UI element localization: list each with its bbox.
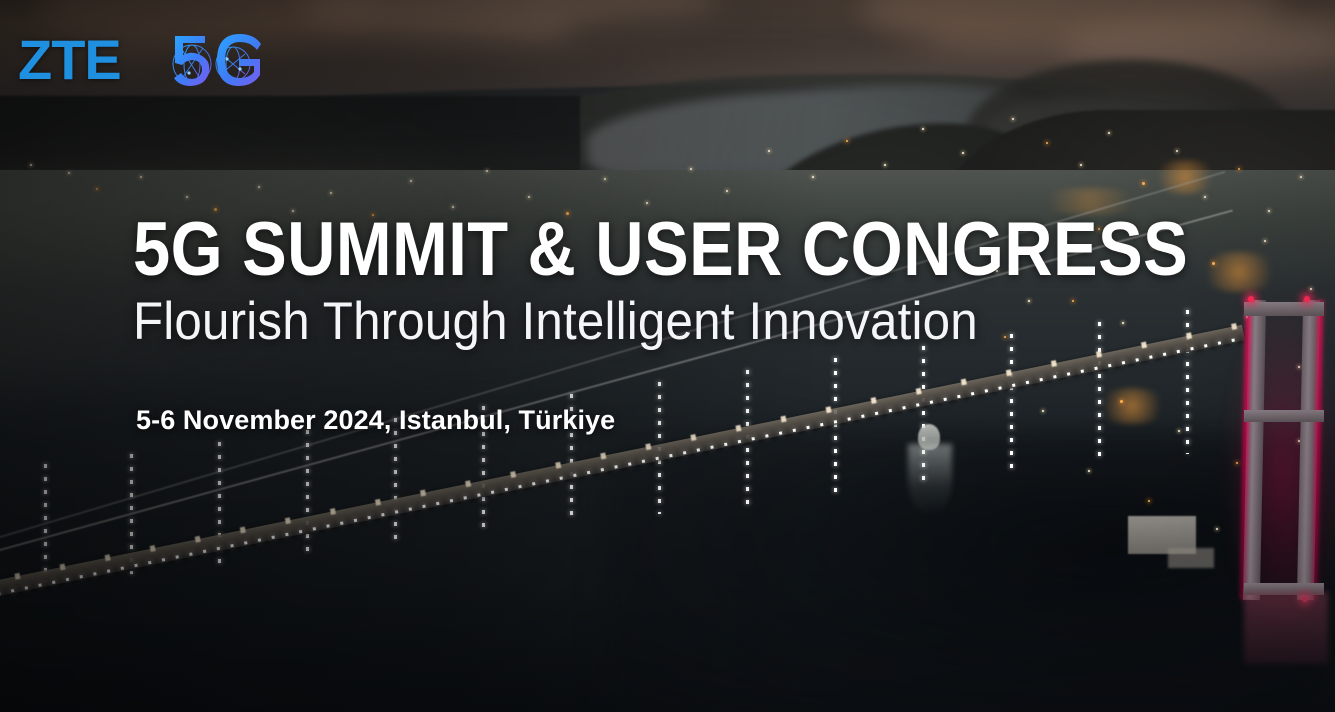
content-overlay: ZTE bbox=[0, 0, 1335, 712]
page-title: 5G SUMMIT & USER CONGRESS bbox=[133, 214, 1013, 287]
logo-lockup: ZTE bbox=[18, 28, 261, 92]
slide-canvas: ZTE bbox=[0, 0, 1335, 712]
hero-text-block: 5G SUMMIT & USER CONGRESS Flourish Throu… bbox=[133, 214, 1133, 350]
zte-logo: ZTE bbox=[18, 32, 121, 88]
page-subtitle: Flourish Through Intelligent Innovation bbox=[133, 293, 1063, 350]
5g-logo-icon bbox=[161, 28, 261, 92]
event-date-location: 5-6 November 2024, Istanbul, Türkiye bbox=[136, 405, 615, 436]
